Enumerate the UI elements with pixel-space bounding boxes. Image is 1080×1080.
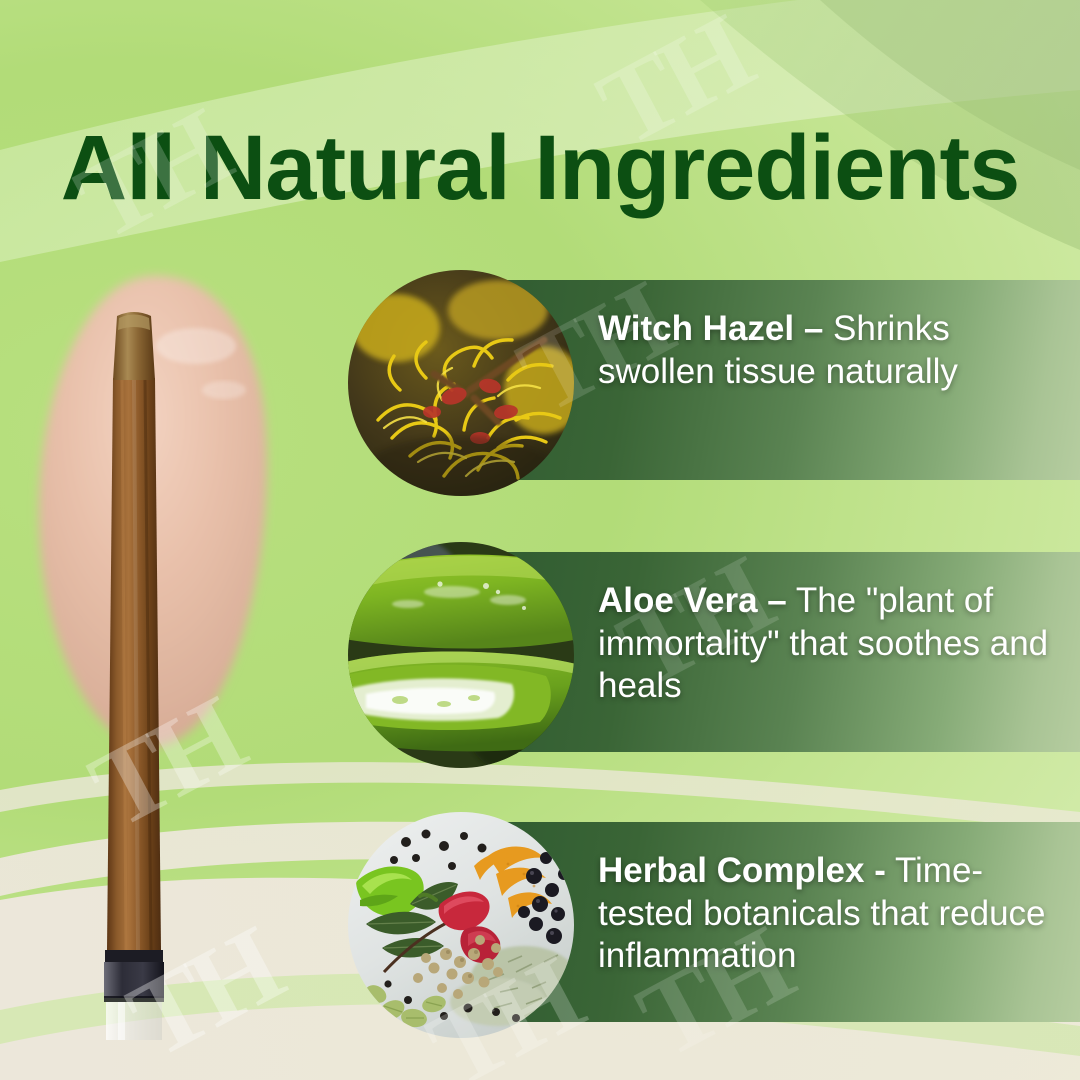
ingredients-poster: All Natural Ingredients	[0, 0, 1080, 1080]
product-applicator-image	[0, 250, 340, 1040]
aloe-vera-title: Aloe Vera –	[598, 581, 787, 620]
aloe-vera-text: Aloe Vera – The "plant of immortality" t…	[598, 580, 1056, 708]
witch-hazel-text: Witch Hazel – Shrinks swollen tissue nat…	[598, 308, 1056, 393]
herbal-complex-title: Herbal Complex -	[598, 851, 886, 890]
ingredient-row-witch-hazel: Witch Hazel – Shrinks swollen tissue nat…	[348, 280, 1080, 480]
witch-hazel-title: Witch Hazel –	[598, 309, 823, 348]
page-title: All Natural Ingredients	[0, 122, 1080, 214]
witch-hazel-image	[348, 270, 574, 496]
aloe-vera-image	[348, 542, 574, 768]
herbal-complex-image	[348, 812, 574, 1038]
ingredient-row-herbal-complex: Herbal Complex - Time-tested botanicals …	[348, 822, 1080, 1022]
herbal-complex-text: Herbal Complex - Time-tested botanicals …	[598, 850, 1056, 978]
ingredient-row-aloe-vera: Aloe Vera – The "plant of immortality" t…	[348, 552, 1080, 752]
